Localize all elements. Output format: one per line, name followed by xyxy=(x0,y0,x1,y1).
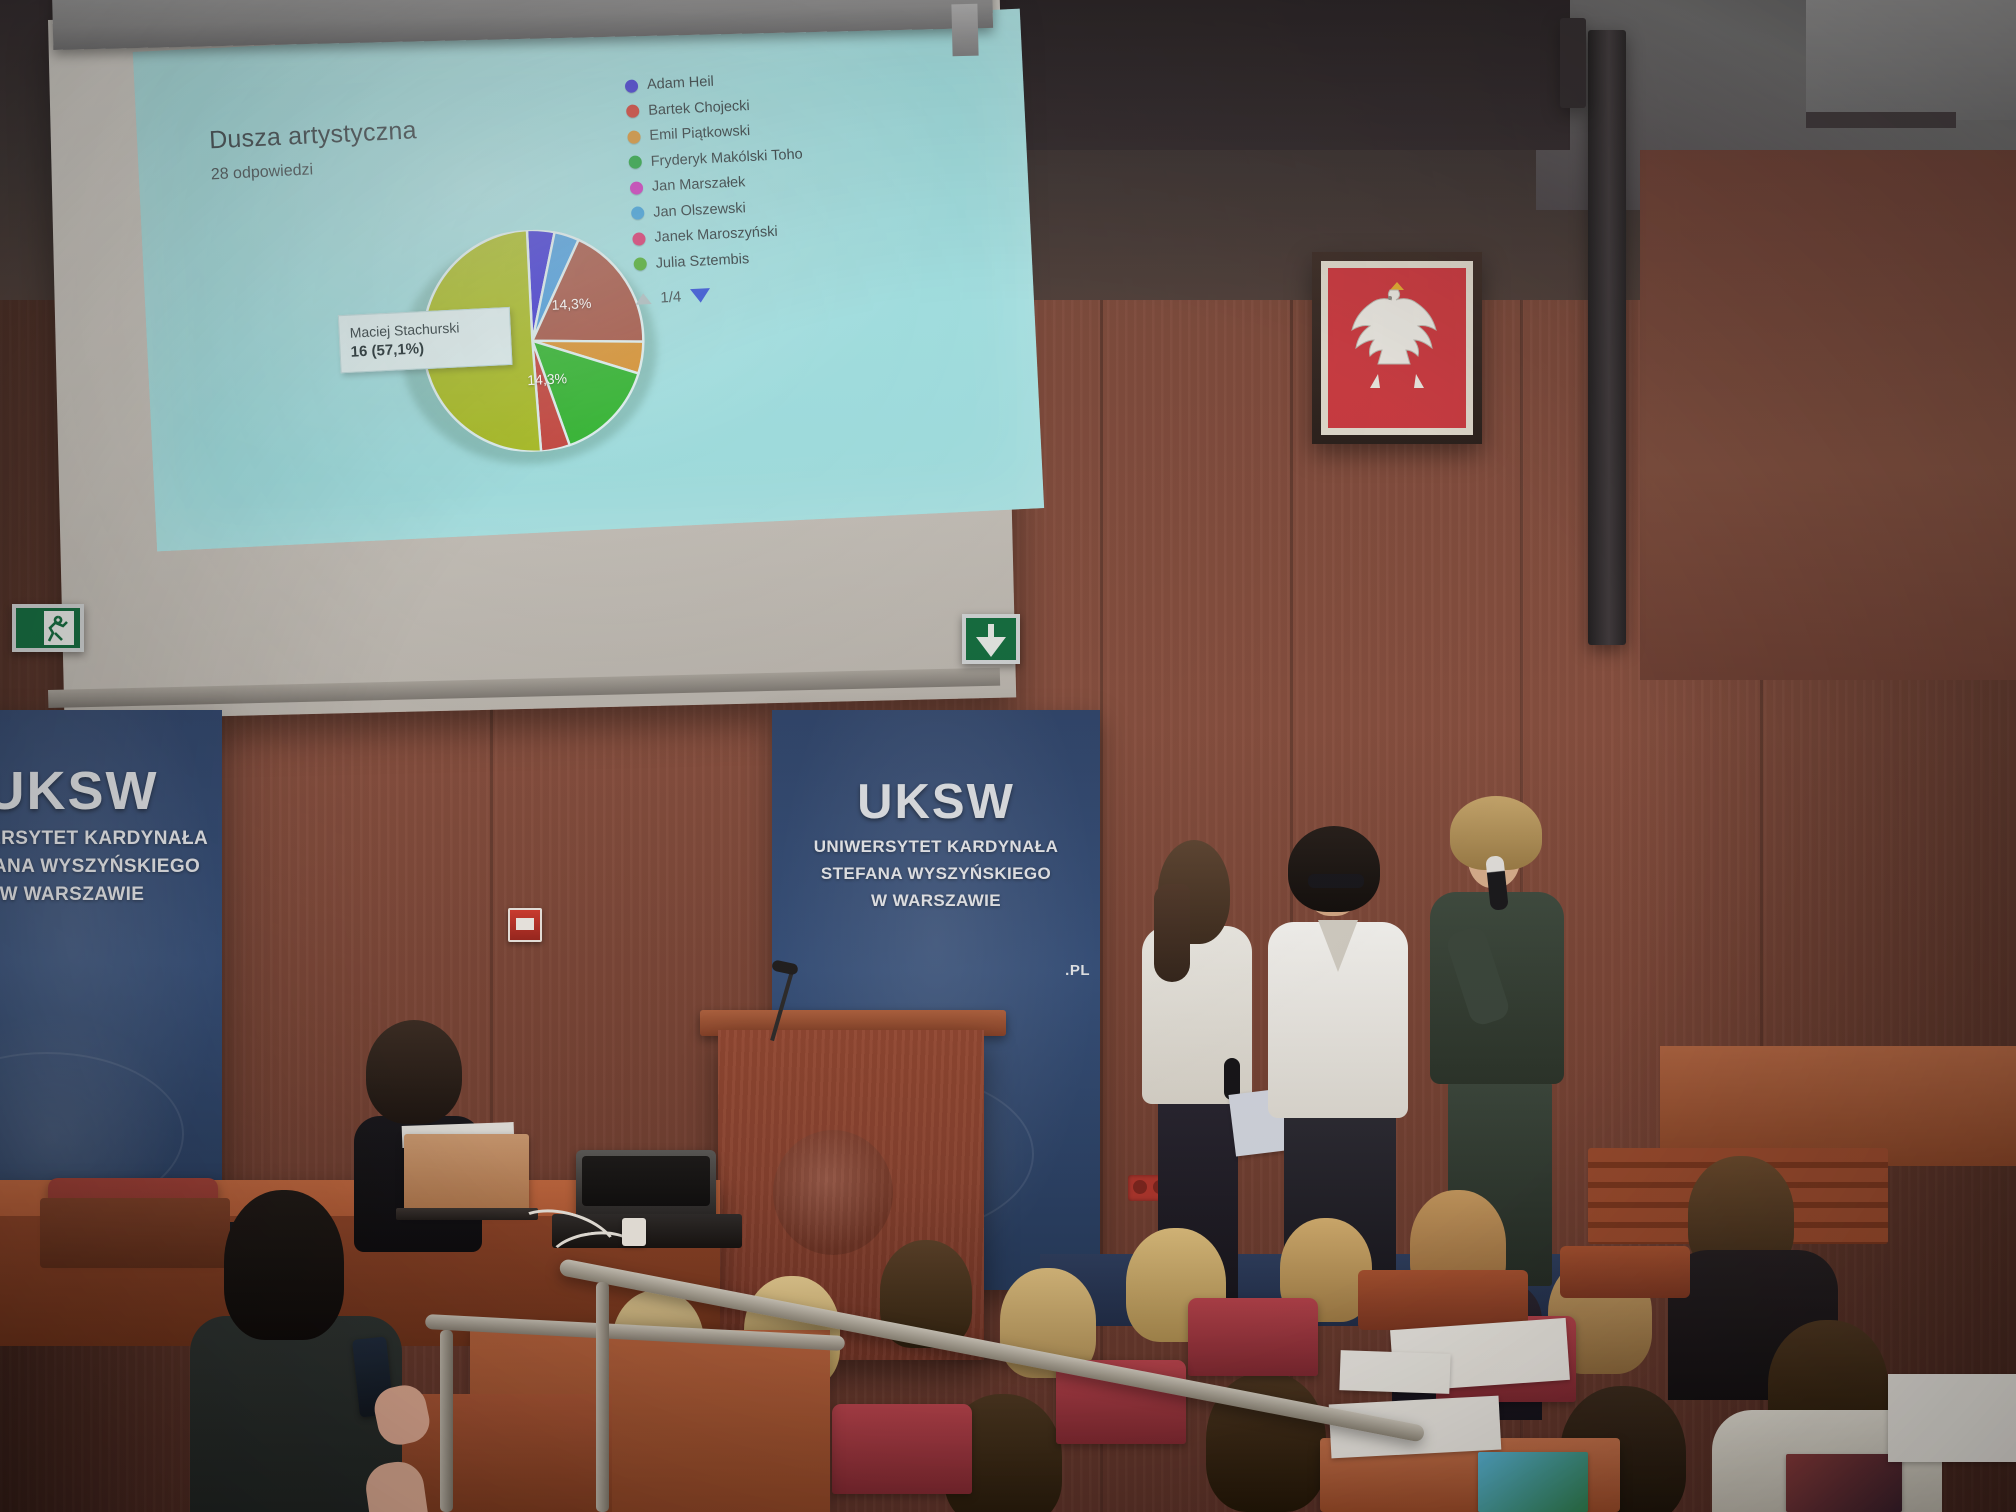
legend-item: Adam Heil xyxy=(625,68,836,94)
polish-eagle-emblem xyxy=(1312,252,1482,444)
handrail-post xyxy=(440,1330,453,1512)
emblem-shield xyxy=(1328,268,1466,428)
lecture-seat xyxy=(832,1404,972,1494)
book xyxy=(1786,1454,1902,1512)
lectern-emblem xyxy=(773,1130,893,1255)
tooltip-value: 16 (57,1%) xyxy=(350,340,424,361)
legend-swatch-icon xyxy=(625,79,639,93)
legend-item: Emil Piątkowski xyxy=(627,119,838,145)
banner-acronym: UKSW xyxy=(0,760,222,822)
banner-line-2: STEFANA WYSZYŃSKIEGO xyxy=(0,856,222,878)
banner-line-1: UNIWERSYTET KARDYNAŁA xyxy=(772,837,1100,857)
legend-label: Fryderyk Makólski Toho xyxy=(650,146,803,169)
legend-swatch-icon xyxy=(633,257,647,271)
laptop-screen xyxy=(404,1134,529,1212)
slide-title: Dusza artystyczna xyxy=(209,116,418,155)
triangle-up-icon[interactable] xyxy=(635,292,652,304)
emergency-exit-down-arrow-icon xyxy=(962,614,1020,664)
emergency-exit-running-man-icon xyxy=(12,604,84,652)
wall-bracket xyxy=(1560,18,1586,108)
legend-label: Jan Olszewski xyxy=(653,200,746,221)
legend-swatch-icon xyxy=(631,206,645,220)
banner-line-3: W WARSZAWIE xyxy=(0,884,222,906)
fire-alarm-call-point xyxy=(508,908,542,942)
ceiling-panel-edge xyxy=(1806,112,1956,128)
slide-response-count: 28 odpowiedzi xyxy=(210,161,313,184)
power-adapter xyxy=(622,1218,646,1246)
book xyxy=(1478,1452,1588,1512)
legend-pager[interactable]: 1/4 xyxy=(635,280,846,307)
desk-front-panel xyxy=(40,1198,230,1268)
right-wall-upper xyxy=(1640,150,2016,680)
legend-label: Jan Marszałek xyxy=(652,174,746,195)
legend-swatch-icon xyxy=(627,130,641,144)
legend-item: Jan Marszałek xyxy=(630,170,841,196)
pager-label: 1/4 xyxy=(660,288,682,306)
eagle-icon xyxy=(1338,278,1456,418)
presenter-2-hair xyxy=(1288,826,1380,912)
legend-item: Janek Maroszyński xyxy=(632,221,843,247)
seat-back xyxy=(1560,1246,1690,1298)
operator-hair xyxy=(366,1020,462,1124)
banner-acronym: UKSW xyxy=(772,774,1100,830)
legend-item: Julia Sztembis xyxy=(633,246,844,272)
ceiling-beam xyxy=(990,0,1570,150)
legend-item: Jan Olszewski xyxy=(631,195,842,221)
legend-label: Bartek Chojecki xyxy=(648,97,750,118)
filming-attendee-hair xyxy=(224,1190,344,1340)
banner-line-2: STEFANA WYSZYŃSKIEGO xyxy=(772,864,1100,884)
legend-swatch-icon xyxy=(626,104,640,118)
legend-item: Bartek Chojecki xyxy=(626,93,837,119)
legend-label: Julia Sztembis xyxy=(655,251,749,272)
triangle-down-icon[interactable] xyxy=(690,288,711,303)
legend-label: Emil Piątkowski xyxy=(649,123,750,144)
lecture-seat xyxy=(1188,1298,1318,1376)
sunglasses-icon xyxy=(1308,874,1364,888)
handrail-post xyxy=(596,1282,609,1512)
banner-line-1: UNIWERSYTET KARDYNAŁA xyxy=(0,828,222,850)
pie-tooltip: Maciej Stachurski 16 (57,1%) xyxy=(338,307,513,373)
screen-roller-end-cap xyxy=(951,4,978,57)
tooltip-name: Maciej Stachurski xyxy=(349,316,500,342)
chart-legend: Adam Heil Bartek Chojecki Emil Piątkowsk… xyxy=(625,68,846,307)
paper-sheet xyxy=(1339,1350,1450,1394)
paper-sheet xyxy=(1888,1374,2016,1462)
legend-label: Adam Heil xyxy=(647,74,715,93)
av-equipment xyxy=(576,1150,716,1222)
legend-swatch-icon xyxy=(630,181,644,195)
legend-label: Janek Maroszyński xyxy=(654,224,778,246)
legend-swatch-icon xyxy=(632,232,646,246)
banner-url-fragment: .PL xyxy=(1065,962,1090,979)
ceiling-panel xyxy=(1806,0,2016,120)
legend-swatch-icon xyxy=(628,155,642,169)
emblem-mat xyxy=(1321,261,1473,435)
presenter-1-hair-front xyxy=(1154,884,1190,982)
lecture-hall-photo: Dusza artystyczna 28 odpowiedzi xyxy=(0,0,2016,1512)
projection-screen: Dusza artystyczna 28 odpowiedzi xyxy=(48,0,1016,720)
seat-back xyxy=(1358,1270,1528,1330)
projected-slide: Dusza artystyczna 28 odpowiedzi xyxy=(133,9,1044,552)
wall-speaker-strip xyxy=(1588,30,1626,645)
banner-line-3: W WARSZAWIE xyxy=(772,891,1100,911)
legend-item: Fryderyk Makólski Toho xyxy=(628,144,839,170)
